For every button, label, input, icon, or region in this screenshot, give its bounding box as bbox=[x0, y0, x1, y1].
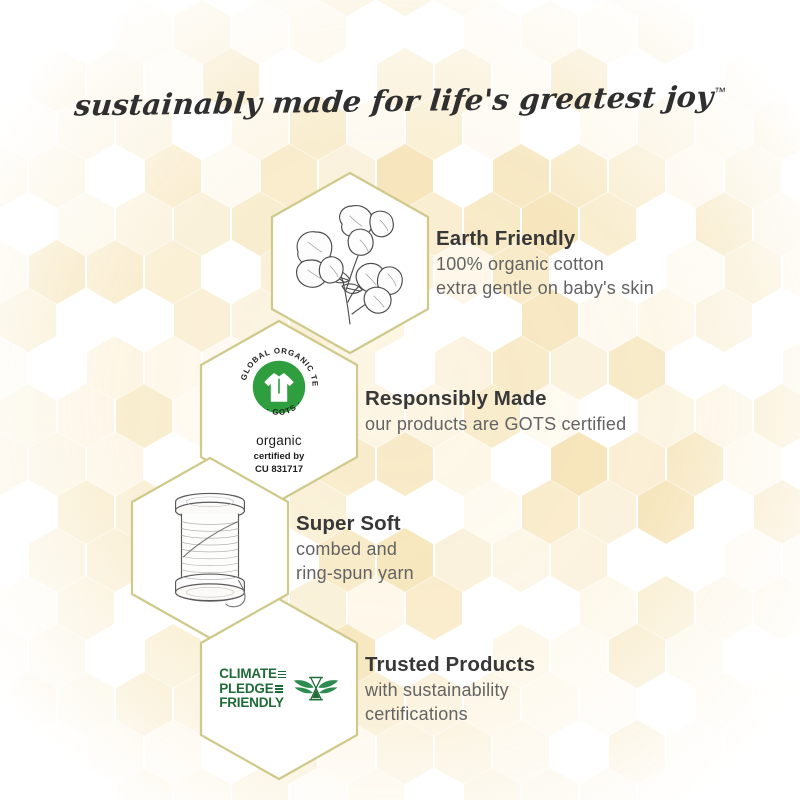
feature-line: our products are GOTS certified bbox=[365, 413, 626, 437]
headline-text: sustainably made for life's greatest joy… bbox=[73, 79, 727, 122]
feature-line: certifications bbox=[365, 703, 535, 727]
climate-pledge-friendly-icon: CLIMATE PLEDGE FRIENDLY bbox=[219, 667, 339, 710]
feature-line: ring-spun yarn bbox=[296, 562, 414, 586]
feature-title: Responsibly Made bbox=[365, 386, 626, 411]
feature-title: Super Soft bbox=[296, 511, 414, 536]
gots-organic-label: organic bbox=[256, 433, 302, 448]
feature-line: 100% organic cotton bbox=[436, 253, 654, 277]
hexagon-tile-trusted-products: CLIMATE PLEDGE FRIENDLY bbox=[197, 596, 361, 782]
trademark-symbol: ™ bbox=[713, 85, 726, 99]
feature-line: extra gentle on baby's skin bbox=[436, 277, 654, 301]
climate-pledge-friendly-wordmark: CLIMATE PLEDGE FRIENDLY bbox=[219, 667, 286, 710]
cotton-branch-sketch-icon bbox=[280, 198, 420, 328]
feature-title: Trusted Products bbox=[365, 652, 535, 677]
feature-title: Earth Friendly bbox=[436, 226, 654, 251]
feature-line: with sustainability bbox=[365, 679, 535, 703]
thread-spool-sketch-icon bbox=[151, 484, 269, 612]
cpf-line-3: FRIENDLY bbox=[219, 696, 284, 710]
cpf-line-1: CLIMATE bbox=[219, 667, 277, 681]
winged-hourglass-icon bbox=[293, 672, 339, 706]
feature-trusted-products: CLIMATE PLEDGE FRIENDLY bbox=[197, 596, 535, 782]
headline: sustainably made for life's greatest joy… bbox=[0, 84, 800, 118]
cpf-line-2: PLEDGE bbox=[219, 682, 273, 696]
feature-text-trusted-products: Trusted Products with sustainability cer… bbox=[361, 652, 535, 727]
feature-text-responsibly-made: Responsibly Made our products are GOTS c… bbox=[361, 386, 626, 437]
feature-line: combed and bbox=[296, 538, 414, 562]
cpf-bars-icon bbox=[275, 685, 283, 693]
feature-text-earth-friendly: Earth Friendly 100% organic cotton extra… bbox=[432, 226, 654, 301]
feature-text-super-soft: Super Soft combed and ring-spun yarn bbox=[292, 511, 414, 586]
gots-seal: GLOBAL ORGANIC TEXTILE STANDARD · GOTS · bbox=[238, 346, 320, 428]
cpf-bars-icon bbox=[278, 671, 286, 679]
headline-phrase: sustainably made for life's greatest joy bbox=[73, 80, 715, 123]
